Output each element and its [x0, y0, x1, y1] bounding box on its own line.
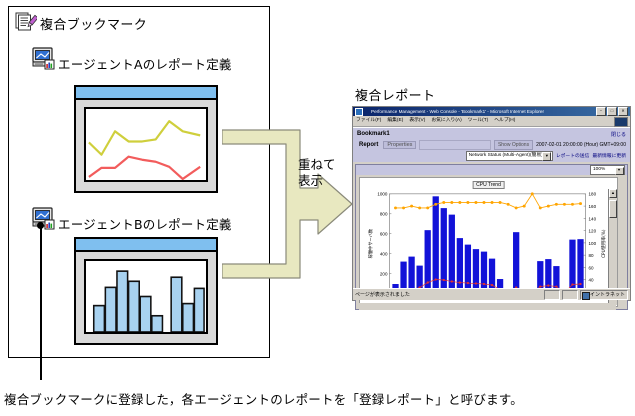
bookmark-header-row: Bookmark1 閉じる: [357, 129, 626, 139]
close-link[interactable]: 閉じる: [611, 131, 626, 138]
agent-monitor-icon: [32, 207, 56, 230]
svg-text:180: 180: [589, 192, 597, 197]
report-datetime: 2007-02-01 20:00:00 (Hour) GMT+09:00: [536, 142, 626, 148]
close-button[interactable]: ✕: [618, 107, 628, 116]
menu-favorites[interactable]: お気に入り(A): [431, 117, 461, 125]
svg-text:100: 100: [589, 241, 597, 246]
svg-text:80: 80: [589, 253, 595, 258]
bookmark-select-row: Network Status (Multi-Agent)(簡易) ▼ レポートの…: [357, 150, 626, 162]
tab-report[interactable]: Report: [357, 142, 380, 148]
menu-tools[interactable]: ツール(T): [468, 117, 489, 125]
agent-b-label: エージェントBのレポート定義: [58, 214, 232, 233]
overlay-label-line1: 重ねて: [298, 157, 358, 173]
agent-a-report-card: [74, 85, 218, 193]
minimize-button[interactable]: −: [596, 107, 606, 116]
svg-text:CPU使用率(%): CPU使用率(%): [600, 229, 607, 258]
maximize-button[interactable]: □: [607, 107, 617, 116]
svg-text:160: 160: [589, 204, 597, 209]
svg-text:600: 600: [380, 232, 388, 237]
window-controls: − □ ✕: [596, 107, 628, 116]
svg-text:稼働中サーバ数: 稼働中サーバ数: [367, 228, 374, 258]
svg-text:40: 40: [589, 278, 595, 283]
chart-toolbar: 100% ▼: [356, 165, 627, 175]
chart-horizontal-scrollbar[interactable]: [359, 303, 616, 310]
chart-title: CPU Trend: [472, 181, 505, 189]
menu-file[interactable]: ファイル(F): [356, 117, 381, 125]
menu-help[interactable]: ヘルプ(H): [494, 117, 515, 125]
browser-window: Performance Management - Web Console - '…: [352, 106, 631, 301]
overlay-label-line2: 表示: [298, 173, 358, 189]
leader-line: [40, 225, 42, 380]
show-options-button[interactable]: Show Options: [494, 140, 533, 150]
composite-bookmark-label: 複合ブックマーク: [40, 14, 147, 33]
chevron-down-icon[interactable]: ▼: [542, 152, 551, 161]
bookmark-toolbar: Bookmark1 閉じる Report Properties Show Opt…: [353, 127, 630, 162]
report-history-link[interactable]: レポートの送信: [556, 152, 590, 159]
bookmark-tab-row: Report Properties Show Options 2007-02-0…: [357, 139, 626, 150]
scroll-thumb[interactable]: [609, 200, 617, 218]
zoom-value: 100%: [593, 167, 605, 172]
agent-a-label: エージェントAのレポート定義: [58, 54, 232, 73]
tab-properties[interactable]: Properties: [383, 141, 416, 149]
svg-text:800: 800: [380, 212, 388, 217]
scroll-up-button[interactable]: ▲: [609, 189, 617, 198]
svg-text:140: 140: [589, 216, 597, 221]
svg-text:400: 400: [380, 252, 388, 257]
composite-report-title: 複合レポート: [355, 85, 435, 104]
merge-arrow: [222, 126, 364, 302]
report-select[interactable]: Network Status (Multi-Agent)(簡易) ▼: [466, 151, 553, 161]
menu-view[interactable]: 表示(V): [409, 117, 425, 125]
browser-logo-icon: [614, 117, 628, 127]
status-cell: [544, 290, 560, 300]
svg-text:200: 200: [380, 272, 388, 277]
bookmark-pen-icon: [15, 12, 37, 32]
security-zone: イントラネット: [580, 290, 628, 300]
window-title: Performance Management - Web Console - '…: [371, 109, 596, 115]
status-message: ページが表示されました: [355, 291, 542, 298]
card-titlebar: [76, 87, 216, 100]
line-chart-thumbnail: [84, 107, 208, 182]
zoom-select[interactable]: 100% ▼: [590, 165, 625, 175]
menu-edit[interactable]: 編集(E): [387, 117, 403, 125]
overlay-display-label: 重ねて 表示: [298, 157, 358, 189]
report-select-value: Network Status (Multi-Agent)(簡易): [469, 153, 543, 158]
figure-caption: 複合ブックマークに登録した，各エージェントのレポートを「登録レポート」と呼びます…: [4, 389, 523, 408]
agent-monitor-icon: [32, 47, 56, 70]
security-zone-label: イントラネット: [590, 292, 625, 298]
bar-chart-thumbnail: [84, 259, 208, 334]
status-bar: ページが表示されました イントラネット: [353, 288, 630, 300]
toolbar-spacer: [419, 140, 491, 150]
refresh-link[interactable]: 最新情報に更新: [592, 152, 626, 159]
menu-bar: ファイル(F) 編集(E) 表示(V) お気に入り(A) ツール(T) ヘルプ(…: [353, 116, 630, 127]
intranet-icon: [582, 292, 590, 300]
status-cell: [562, 290, 578, 300]
ie-icon: [355, 108, 363, 116]
svg-text:120: 120: [589, 229, 597, 234]
window-titlebar: Performance Management - Web Console - '…: [353, 107, 630, 116]
svg-text:1000: 1000: [377, 192, 388, 197]
card-titlebar: [76, 239, 216, 252]
svg-text:60: 60: [589, 265, 595, 270]
bookmark-name: Bookmark1: [357, 131, 390, 137]
chevron-down-icon[interactable]: ▼: [615, 167, 624, 175]
agent-b-report-card: [74, 237, 218, 345]
